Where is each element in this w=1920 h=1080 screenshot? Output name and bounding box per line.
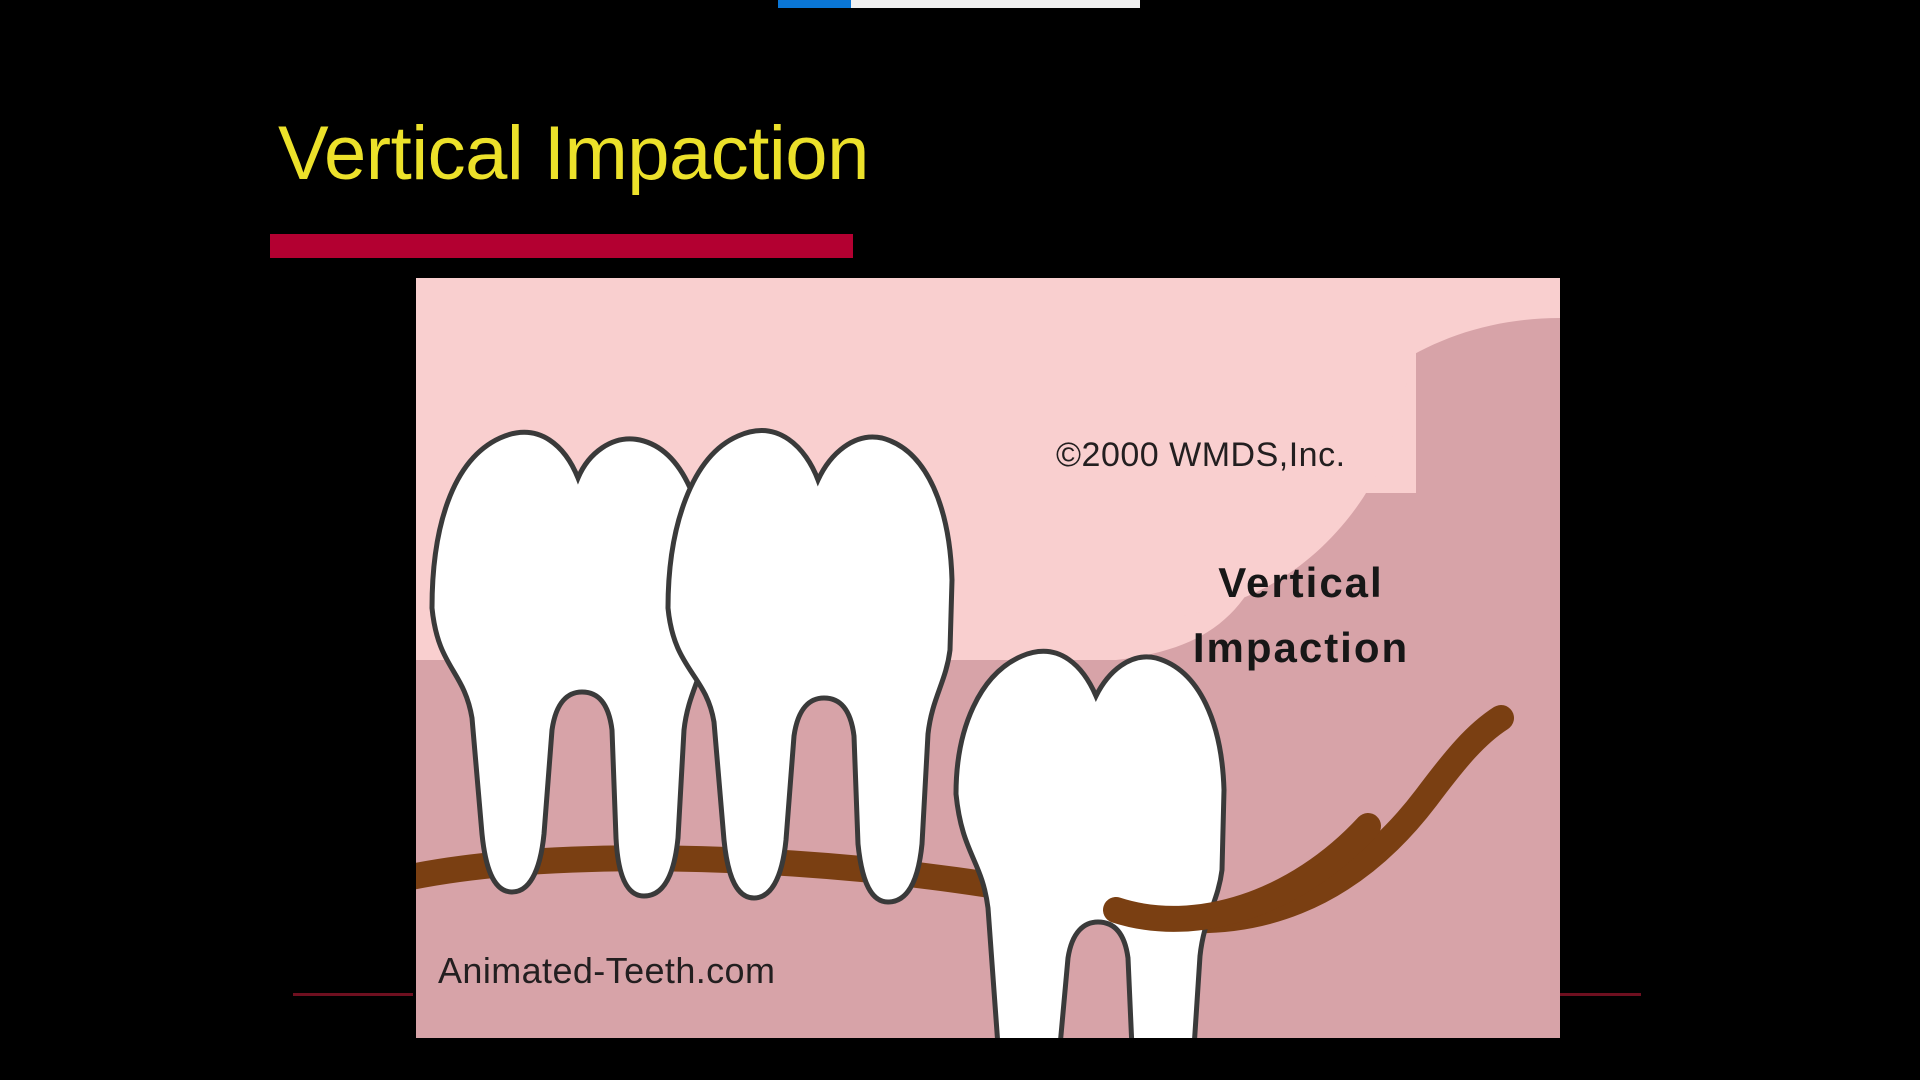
progress-bar-fill (778, 0, 851, 8)
diagram-label: Vertical Impaction (1136, 550, 1466, 680)
tooth-illustration: ©2000 WMDS,Inc. Vertical Impaction Anima… (416, 278, 1560, 1038)
copyright-notice: ©2000 WMDS,Inc. (1056, 436, 1346, 475)
diagram-label-line2: Impaction (1136, 615, 1466, 680)
source-watermark: Animated-Teeth.com (438, 950, 775, 992)
title-underline-rule (270, 234, 853, 258)
progress-bar-track (778, 0, 1140, 8)
decorative-rule-left (293, 993, 413, 996)
page-title: Vertical Impaction (278, 116, 869, 192)
diagram-label-line1: Vertical (1136, 550, 1466, 615)
decorative-rule-right (1560, 993, 1641, 996)
presentation-slide: Vertical Impaction (0, 0, 1920, 1080)
